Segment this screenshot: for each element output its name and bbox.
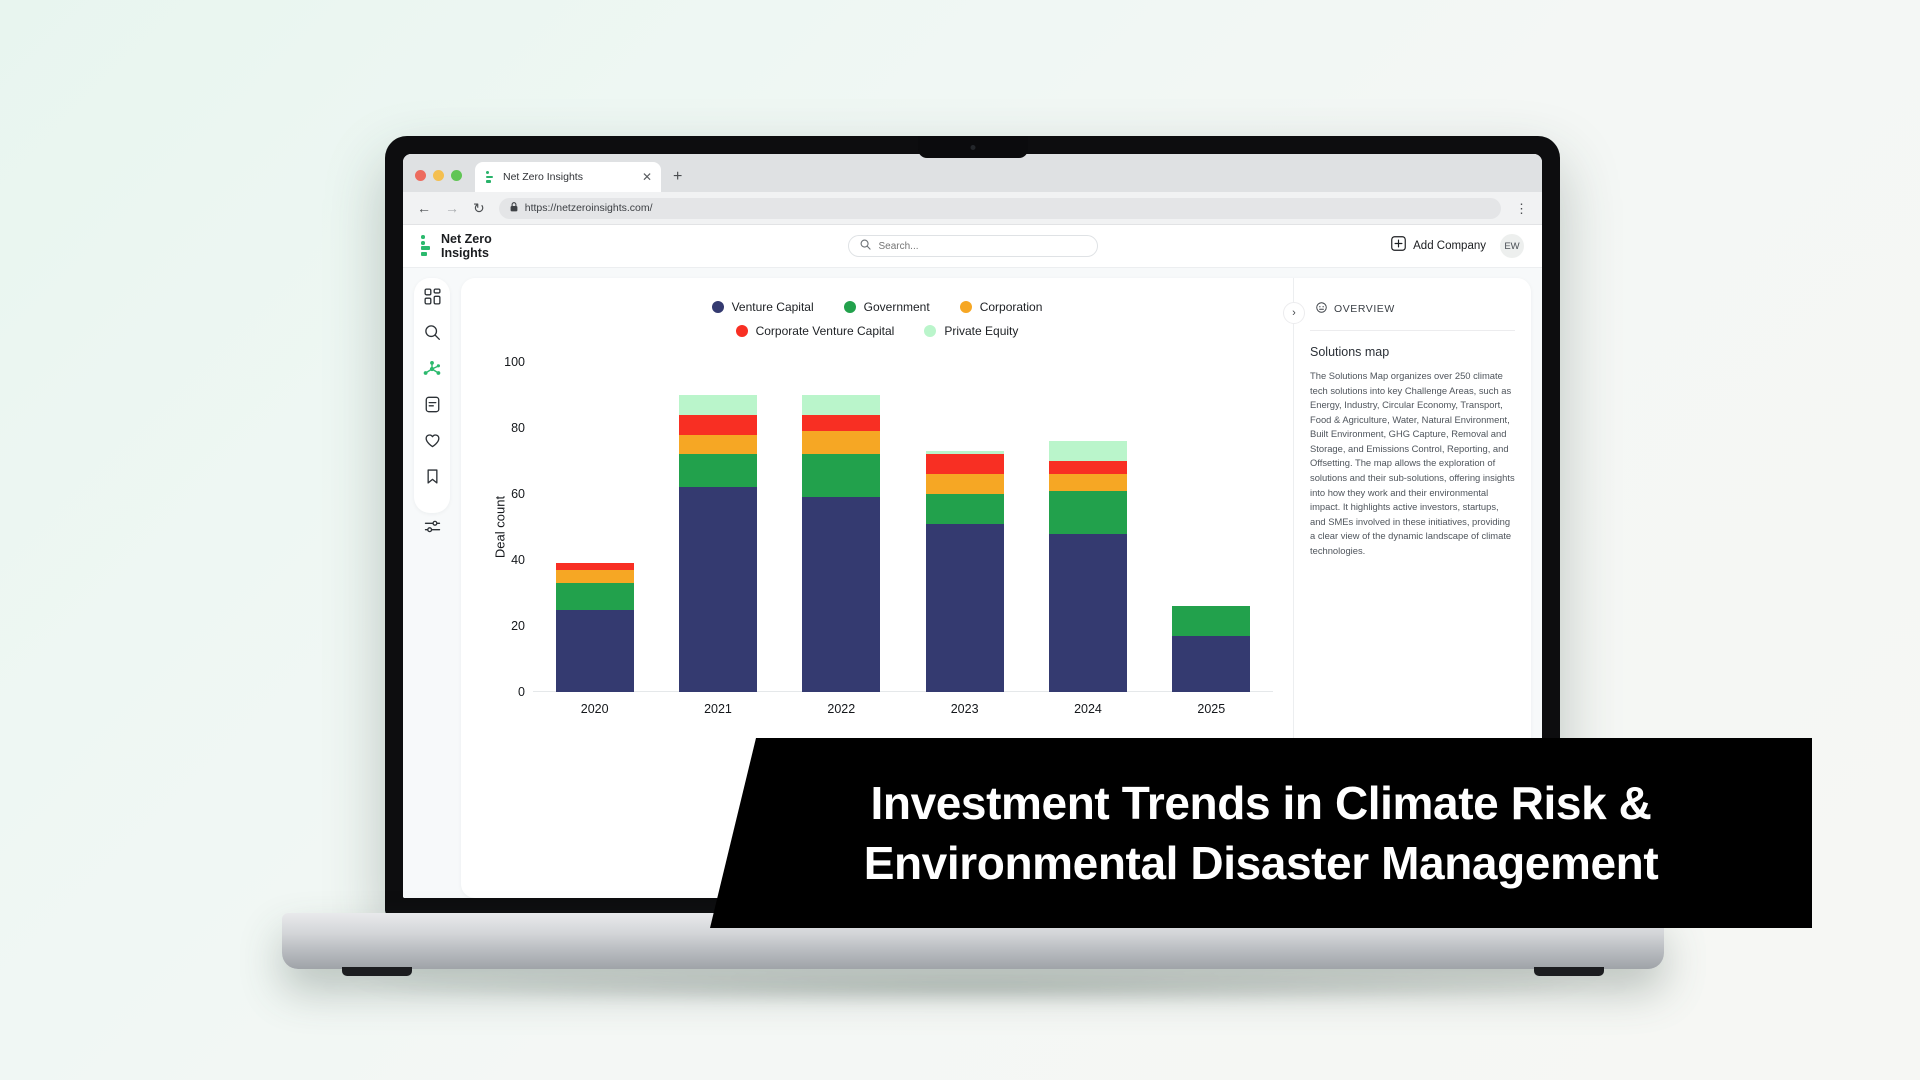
bar-segment[interactable]	[679, 454, 757, 487]
browser-tab-title: Net Zero Insights	[503, 171, 634, 183]
legend-label: Corporation	[980, 300, 1043, 314]
bar-group[interactable]: 2025	[1172, 362, 1250, 692]
title-banner: Investment Trends in Climate Risk & Envi…	[710, 738, 1812, 928]
browser-tab-bar: Net Zero Insights ✕ +	[403, 154, 1542, 192]
legend-item-venture-capital[interactable]: Venture Capital	[712, 300, 814, 314]
camera-icon	[970, 145, 975, 150]
legend-label: Corporate Venture Capital	[756, 324, 895, 338]
legend-swatch	[924, 325, 936, 337]
bar-stack	[1049, 441, 1127, 692]
x-axis-label: 2024	[1049, 702, 1127, 716]
network-icon	[423, 360, 441, 383]
bookmark-icon	[424, 468, 441, 490]
legend-swatch	[960, 301, 972, 313]
sidebar-item-favourites[interactable]	[421, 432, 443, 454]
legend-swatch	[712, 301, 724, 313]
search-icon	[424, 324, 441, 346]
browser-url-bar: ← → ↻ https://netzeroinsights.com/ ⋮	[403, 192, 1542, 225]
bar-stack	[679, 395, 757, 692]
sidebar-item-reports[interactable]	[421, 396, 443, 418]
sliders-icon	[424, 518, 441, 540]
bar-segment[interactable]	[556, 610, 634, 693]
info-circle-icon	[1316, 300, 1327, 318]
favicon-icon	[484, 171, 495, 184]
bar-segment[interactable]	[802, 454, 880, 497]
laptop-shadow	[300, 968, 1650, 1006]
bar-group[interactable]: 2020	[556, 362, 634, 692]
lock-icon	[510, 202, 518, 214]
bar-segment[interactable]	[802, 497, 880, 692]
grid-icon	[424, 288, 441, 310]
forward-icon[interactable]: →	[445, 201, 459, 215]
sidebar-item-solutions-map[interactable]	[421, 360, 443, 382]
bar-group[interactable]: 2023	[926, 362, 1004, 692]
overview-section-title: OVERVIEW	[1334, 303, 1395, 315]
bar-segment[interactable]	[926, 524, 1004, 692]
bar-segment[interactable]	[679, 395, 757, 415]
avatar[interactable]: EW	[1500, 234, 1524, 258]
browser-tab[interactable]: Net Zero Insights ✕	[475, 162, 661, 192]
sidebar-item-filters[interactable]	[421, 518, 443, 540]
bar-segment[interactable]	[1049, 474, 1127, 491]
bar-segment[interactable]	[556, 563, 634, 570]
browser-menu-icon[interactable]: ⋮	[1515, 202, 1528, 215]
banner-line-2: Environmental Disaster Management	[864, 836, 1659, 890]
net-zero-logo-icon	[421, 235, 434, 257]
plot-area: Deal count 020406080100 2020202120222023…	[461, 362, 1293, 692]
bar-segment[interactable]	[1049, 491, 1127, 534]
legend-item-corporation[interactable]: Corporation	[960, 300, 1043, 314]
bar-segment[interactable]	[802, 431, 880, 454]
bar-segment[interactable]	[679, 435, 757, 455]
legend-label: Private Equity	[944, 324, 1018, 338]
bar-series-container: 202020212022202320242025	[533, 362, 1273, 692]
bar-segment[interactable]	[802, 395, 880, 415]
bar-segment[interactable]	[1172, 606, 1250, 636]
bar-stack	[1172, 606, 1250, 692]
sidebar-item-saved[interactable]	[421, 468, 443, 490]
bar-segment[interactable]	[1049, 461, 1127, 474]
add-company-button[interactable]: Add Company	[1391, 236, 1486, 256]
app-logo[interactable]: Net Zero Insights	[421, 232, 651, 260]
logo-line-2: Insights	[441, 246, 492, 260]
bar-stack	[926, 451, 1004, 692]
legend-item-corporate-venture-capital[interactable]: Corporate Venture Capital	[736, 324, 895, 338]
divider	[1310, 330, 1515, 331]
x-axis-label: 2021	[679, 702, 757, 716]
y-axis-tick: 100	[491, 355, 525, 369]
bar-segment[interactable]	[556, 570, 634, 583]
legend-swatch	[844, 301, 856, 313]
search-input[interactable]	[879, 241, 1086, 252]
legend-item-private-equity[interactable]: Private Equity	[924, 324, 1018, 338]
close-window-button[interactable]	[415, 170, 426, 181]
bar-segment[interactable]	[926, 494, 1004, 524]
minimize-window-button[interactable]	[433, 170, 444, 181]
reload-icon[interactable]: ↻	[473, 201, 485, 215]
sidebar	[414, 278, 450, 513]
overview-header: OVERVIEW	[1310, 300, 1515, 318]
app-logo-text: Net Zero Insights	[441, 232, 492, 260]
laptop-foot	[1534, 967, 1604, 976]
heart-icon	[424, 432, 441, 454]
panel-heading: Solutions map	[1310, 345, 1515, 359]
x-axis-label: 2022	[802, 702, 880, 716]
x-axis-label: 2025	[1172, 702, 1250, 716]
sidebar-item-dashboard[interactable]	[421, 288, 443, 310]
bar-segment[interactable]	[1049, 441, 1127, 461]
bar-segment[interactable]	[679, 487, 757, 692]
maximize-window-button[interactable]	[451, 170, 462, 181]
sidebar-item-search[interactable]	[421, 324, 443, 346]
laptop-notch	[918, 136, 1028, 158]
y-axis-tick: 60	[491, 487, 525, 501]
app-header-actions: Add Company EW	[1294, 234, 1524, 258]
x-axis-label: 2023	[926, 702, 1004, 716]
search-bar[interactable]	[848, 235, 1098, 257]
x-axis-label: 2020	[556, 702, 634, 716]
document-icon	[424, 396, 441, 418]
add-company-label: Add Company	[1413, 240, 1486, 252]
bar-stack	[556, 563, 634, 692]
new-tab-icon[interactable]: +	[673, 169, 682, 185]
bar-group[interactable]: 2022	[802, 362, 880, 692]
back-icon[interactable]: ←	[417, 201, 431, 215]
bar-group[interactable]: 2021	[679, 362, 757, 692]
chart-legend: Venture Capital Government Corporation	[461, 300, 1293, 338]
y-axis-tick: 0	[491, 685, 525, 699]
banner-line-1: Investment Trends in Climate Risk &	[870, 776, 1651, 830]
legend-label: Venture Capital	[732, 300, 814, 314]
bar-segment[interactable]	[679, 415, 757, 435]
window-traffic-lights	[415, 170, 462, 192]
bar-segment[interactable]	[1172, 636, 1250, 692]
legend-row-2: Corporate Venture Capital Private Equity	[736, 324, 1019, 338]
bar-segment[interactable]	[556, 583, 634, 609]
panel-body-text: The Solutions Map organizes over 250 cli…	[1310, 369, 1515, 559]
legend-label: Government	[864, 300, 930, 314]
close-icon[interactable]: ✕	[642, 171, 652, 183]
bar-segment[interactable]	[926, 454, 1004, 474]
laptop-foot	[342, 967, 412, 976]
y-axis-title: Deal count	[493, 496, 508, 558]
bar-segment[interactable]	[1049, 534, 1127, 692]
legend-row-1: Venture Capital Government Corporation	[712, 300, 1043, 314]
url-input[interactable]: https://netzeroinsights.com/	[499, 198, 1501, 219]
bar-stack	[802, 395, 880, 692]
search-icon	[860, 237, 871, 255]
bar-segment[interactable]	[802, 415, 880, 432]
plus-square-icon	[1391, 236, 1406, 256]
legend-item-government[interactable]: Government	[844, 300, 930, 314]
app-header: Net Zero Insights	[403, 225, 1542, 268]
y-axis-tick: 80	[491, 421, 525, 435]
y-axis-tick: 40	[491, 553, 525, 567]
url-text: https://netzeroinsights.com/	[525, 202, 653, 214]
panel-collapse-button[interactable]: ›	[1283, 302, 1305, 324]
y-axis-tick: 20	[491, 619, 525, 633]
logo-line-1: Net Zero	[441, 232, 492, 246]
bar-segment[interactable]	[926, 474, 1004, 494]
bar-group[interactable]: 2024	[1049, 362, 1127, 692]
legend-swatch	[736, 325, 748, 337]
